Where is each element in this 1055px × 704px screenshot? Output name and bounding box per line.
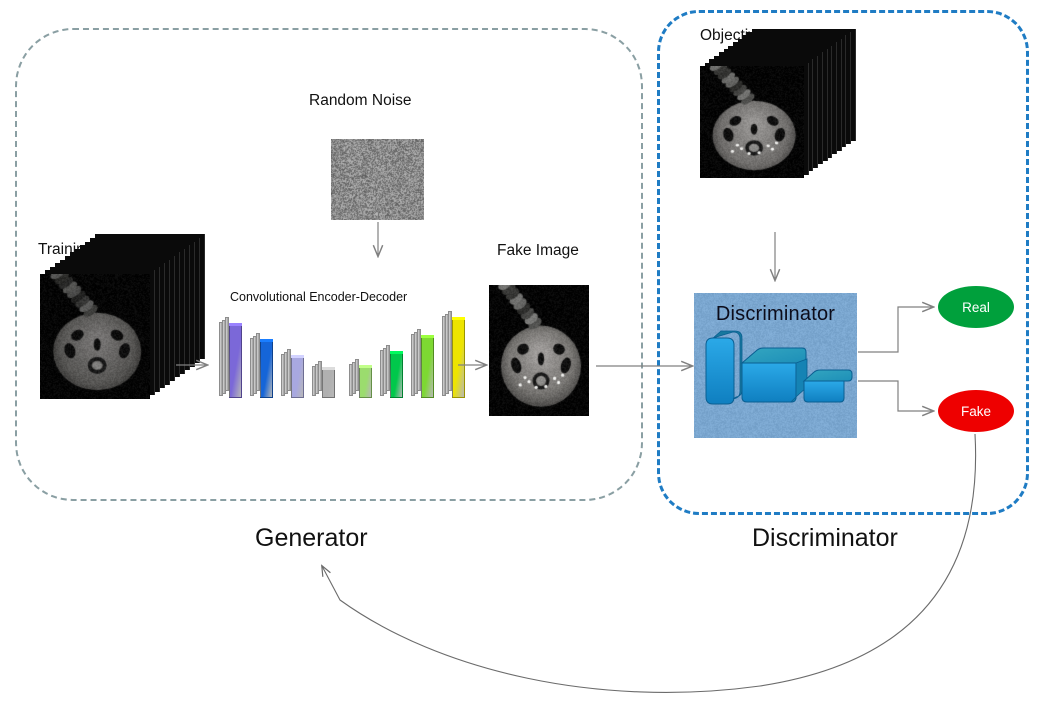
encoder-layer-top (260, 339, 273, 342)
decoder-layer-sheet (349, 364, 353, 396)
fake-image-label: Fake Image (497, 242, 579, 260)
decoder-layer-top (452, 317, 465, 320)
discriminator-box-title: Discriminator (694, 303, 857, 326)
encoder-layer-top (291, 355, 304, 358)
encoder-layer-sheet (250, 338, 254, 396)
decoder-layer-4 (452, 318, 465, 398)
discriminator-network-box: Discriminator (694, 293, 857, 438)
real-label: Real (962, 300, 990, 315)
encoder-layer-3 (291, 356, 304, 398)
output-fake-badge: Fake (938, 390, 1014, 432)
decoder-layer-top (421, 335, 434, 338)
decoder-layer-3 (421, 336, 434, 398)
gan-architecture-diagram: Training Dataset Random Noise Fake Image… (0, 0, 1055, 704)
fake-image (489, 285, 589, 416)
encoder-layer-sheet (312, 366, 316, 396)
decoder-layer-2 (390, 352, 403, 398)
fake-label: Fake (961, 404, 991, 419)
generator-title: Generator (255, 524, 368, 553)
encoder-layer-4 (322, 368, 335, 398)
encoder-layer-2 (260, 340, 273, 398)
output-real-badge: Real (938, 286, 1014, 328)
decoder-layer-top (359, 365, 372, 368)
encoder-layer-sheet (219, 322, 223, 396)
random-noise-image (331, 139, 424, 220)
encoder-layer-top (322, 367, 335, 370)
decoder-layer-sheet (380, 350, 384, 396)
random-noise-label: Random Noise (309, 92, 412, 110)
decoder-layer-sheet (411, 334, 415, 396)
discriminator-title: Discriminator (752, 524, 898, 553)
decoder-layer-sheet (442, 316, 446, 396)
decoder-layer-1 (359, 366, 372, 398)
encoder-layer-top (229, 323, 242, 326)
convolutional-encoder-decoder-label: Convolutional Encoder-Decoder (230, 290, 407, 304)
convolutional-encoder-decoder-graphic (214, 306, 462, 398)
encoder-layer-1 (229, 324, 242, 398)
decoder-layer-top (390, 351, 403, 354)
encoder-layer-sheet (281, 354, 285, 396)
